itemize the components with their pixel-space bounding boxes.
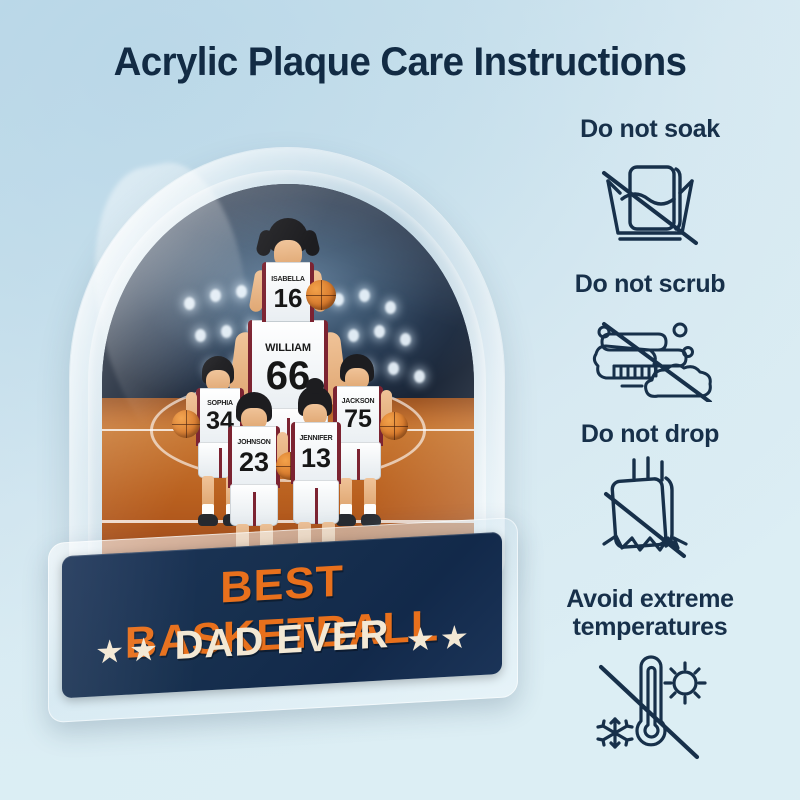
stars-left xyxy=(97,637,157,666)
basketball xyxy=(306,280,336,310)
no-extreme-temperature-icon xyxy=(585,645,715,763)
no-soak-icon xyxy=(590,147,710,252)
star-icon xyxy=(97,638,123,665)
no-drop-icon xyxy=(590,452,710,567)
star-icon xyxy=(131,637,157,664)
care-item-do-not-scrub: Do not scrub xyxy=(500,270,800,420)
jersey-number: 23 xyxy=(228,449,280,476)
care-label: Do not soak xyxy=(500,115,800,143)
no-scrub-icon xyxy=(580,302,720,402)
care-label: Do not scrub xyxy=(500,270,800,298)
jersey-number: 13 xyxy=(291,445,341,472)
care-label-line1: Avoid extreme xyxy=(500,585,800,613)
care-label: Do not drop xyxy=(500,420,800,448)
page-root: Acrylic Plaque Care Instructions xyxy=(0,0,800,800)
care-item-do-not-drop: Do not drop xyxy=(500,420,800,585)
jersey-name: JENNIFER xyxy=(291,435,341,442)
stars-right xyxy=(407,624,467,653)
care-item-do-not-soak: Do not soak xyxy=(500,115,800,270)
jersey-name: JACKSON xyxy=(333,398,383,405)
basketball xyxy=(380,412,408,440)
acrylic-plaque-product-image: WILLIAM 66 ISABELLA 16 xyxy=(48,148,518,708)
page-title: Acrylic Plaque Care Instructions xyxy=(16,40,784,85)
basketball xyxy=(172,410,200,438)
care-instructions-list: Do not soak Do not scrub xyxy=(500,115,800,765)
star-icon xyxy=(441,624,467,651)
plaque-base: BEST BASKETBALL DAD EVER xyxy=(48,517,518,723)
banner-line2: DAD EVER xyxy=(175,612,390,669)
care-label-line2: temperatures xyxy=(500,613,800,641)
star-icon xyxy=(407,626,433,653)
plaque-banner-plate: BEST BASKETBALL DAD EVER xyxy=(62,532,502,699)
jersey-name: WILLIAM xyxy=(248,342,328,354)
care-item-avoid-extreme-temperatures: Avoid extreme temperatures xyxy=(500,585,800,765)
banner-line2-row: DAD EVER xyxy=(62,606,502,676)
jersey-name: ISABELLA xyxy=(262,276,314,283)
jersey-name: JOHNSON xyxy=(228,439,280,446)
